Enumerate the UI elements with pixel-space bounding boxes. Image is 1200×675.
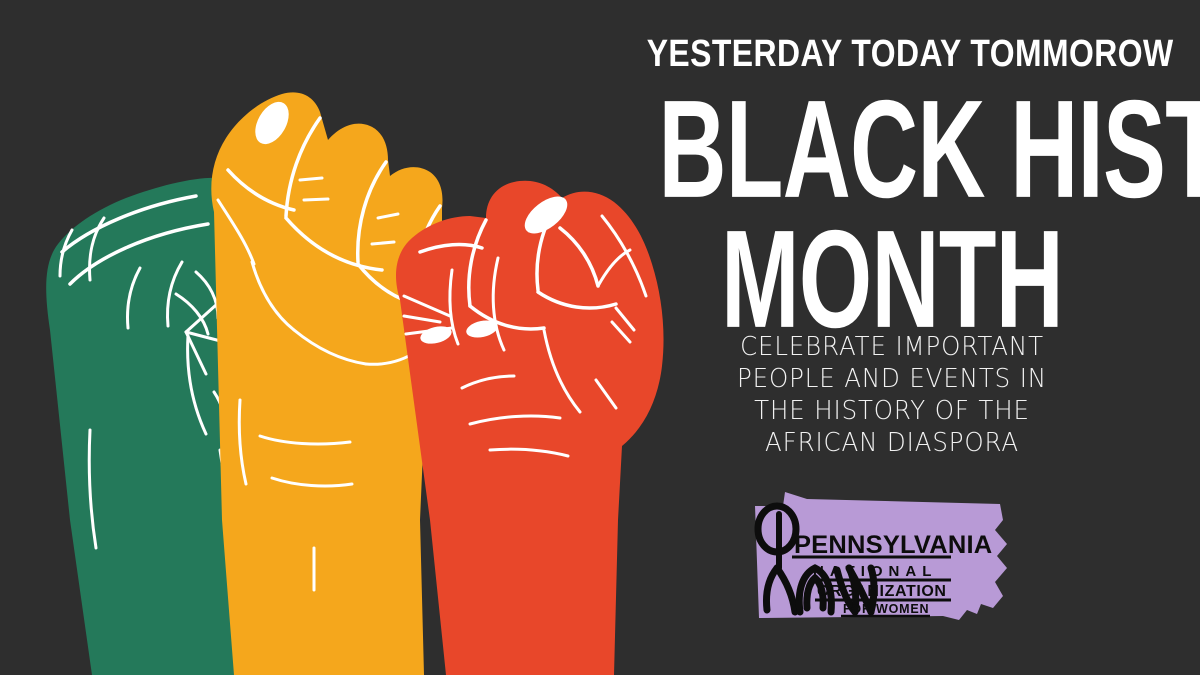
description-text: CELEBRATE IMPORTANT PEOPLE AND EVENTS IN…	[612, 331, 1173, 459]
three-raised-fists-artwork	[0, 0, 700, 675]
logo-line-national: NATIONAL	[813, 563, 937, 580]
description-line-2: PEOPLE AND EVENTS IN	[612, 363, 1173, 395]
tagline: YESTERDAY TODAY TOMMOROW	[647, 33, 1138, 75]
headline-line-2: MONTH	[658, 216, 1125, 343]
page-title: BLACK HISTORY MONTH	[600, 86, 1184, 324]
description-line-1: CELEBRATE IMPORTANT	[612, 331, 1173, 363]
logo-line-pennsylvania: PENNSYLVANIA	[794, 531, 992, 559]
description-line-3: THE HISTORY OF THE	[612, 395, 1173, 427]
logo-line-for-women: FOR WOMEN	[843, 602, 929, 616]
headline-line-1: BLACK HISTORY	[658, 86, 1125, 213]
pennsylvania-now-logo: PENNSYLVANIA NATIONAL ORGANIZATION FOR W…	[745, 486, 1015, 636]
black-history-month-poster: YESTERDAY TODAY TOMMOROW BLACK HISTORY M…	[0, 0, 1200, 675]
logo-line-organization: ORGANIZATION	[817, 583, 947, 600]
description-line-4: AFRICAN DIASPORA	[612, 427, 1173, 459]
text-content-column: YESTERDAY TODAY TOMMOROW BLACK HISTORY M…	[600, 0, 1200, 675]
